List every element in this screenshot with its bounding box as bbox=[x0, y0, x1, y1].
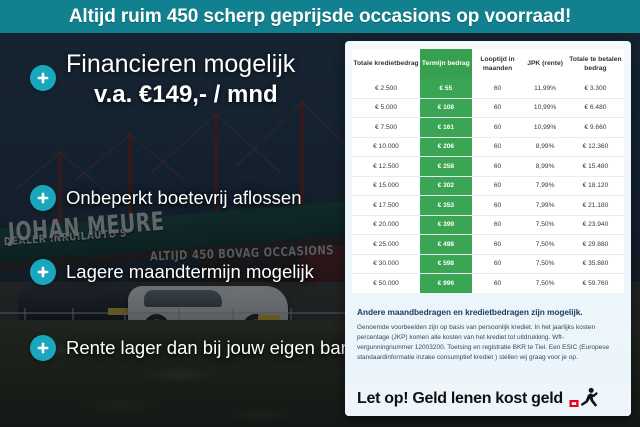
plus-circle-icon bbox=[30, 185, 56, 211]
financing-info-card: Totale kredietbedrag Termijn bedrag Loop… bbox=[345, 41, 631, 416]
table-cell-0: € 50.000 bbox=[352, 274, 420, 293]
table-row: € 10.000€ 206608,99%€ 12.360 bbox=[352, 137, 624, 157]
table-cell-2: 60 bbox=[472, 196, 524, 216]
table-cell-1: € 55 bbox=[420, 79, 472, 98]
table-cell-0: € 12.500 bbox=[352, 157, 420, 177]
table-cell-3: 10,99% bbox=[523, 118, 567, 138]
table-cell-3: 8,99% bbox=[523, 157, 567, 177]
table-cell-1: € 108 bbox=[420, 98, 472, 118]
table-cell-4: € 23.940 bbox=[567, 215, 624, 235]
benefit-item-1: Onbeperkt boetevrij aflossen bbox=[30, 185, 302, 211]
table-cell-0: € 7.500 bbox=[352, 118, 420, 138]
column-header-apr: JPK (rente) bbox=[523, 49, 567, 79]
table-cell-1: € 498 bbox=[420, 235, 472, 255]
table-cell-2: 60 bbox=[472, 215, 524, 235]
table-cell-2: 60 bbox=[472, 98, 524, 118]
table-cell-1: € 598 bbox=[420, 254, 472, 274]
table-cell-1: € 206 bbox=[420, 137, 472, 157]
table-cell-1: € 996 bbox=[420, 274, 472, 293]
table-row: € 2.500€ 556011,99%€ 3.300 bbox=[352, 79, 624, 98]
column-header-total-credit: Totale kredietbedrag bbox=[352, 49, 420, 79]
headline-financing: Financieren mogelijk v.a. €149,- / mnd bbox=[30, 51, 295, 108]
table-cell-0: € 2.500 bbox=[352, 79, 420, 98]
table-cell-0: € 10.000 bbox=[352, 137, 420, 157]
benefits-list: Financieren mogelijk v.a. €149,- / mnd O… bbox=[0, 33, 345, 427]
table-cell-2: 60 bbox=[472, 254, 524, 274]
table-cell-3: 11,99% bbox=[523, 79, 567, 98]
column-header-duration: Looptijd in maanden bbox=[472, 49, 524, 79]
financing-table: Totale kredietbedrag Termijn bedrag Loop… bbox=[352, 49, 624, 293]
credit-warning-text: Let op! Geld lenen kost geld bbox=[357, 390, 563, 408]
financing-table-body: € 2.500€ 556011,99%€ 3.300€ 5.000€ 10860… bbox=[352, 79, 624, 293]
table-cell-1: € 399 bbox=[420, 215, 472, 235]
table-header-row: Totale kredietbedrag Termijn bedrag Loop… bbox=[352, 49, 624, 79]
column-header-total-payable: Totale te betalen bedrag bbox=[567, 49, 624, 79]
table-row: € 12.500€ 258608,99%€ 15.480 bbox=[352, 157, 624, 177]
table-cell-0: € 15.000 bbox=[352, 176, 420, 196]
table-cell-2: 60 bbox=[472, 176, 524, 196]
column-header-monthly-amount: Termijn bedrag bbox=[420, 49, 472, 79]
table-cell-4: € 29.880 bbox=[567, 235, 624, 255]
table-cell-2: 60 bbox=[472, 118, 524, 138]
financing-table-wrapper: Totale kredietbedrag Termijn bedrag Loop… bbox=[352, 49, 624, 293]
table-row: € 30.000€ 598607,50%€ 35.880 bbox=[352, 254, 624, 274]
plus-circle-icon bbox=[30, 335, 56, 361]
benefit-label: Onbeperkt boetevrij aflossen bbox=[66, 187, 302, 209]
table-cell-2: 60 bbox=[472, 137, 524, 157]
credit-warning-bar: Let op! Geld lenen kost geld bbox=[345, 382, 631, 416]
table-cell-3: 7,99% bbox=[523, 196, 567, 216]
top-banner: Altijd ruim 450 scherp geprijsde occasio… bbox=[0, 0, 640, 33]
table-cell-4: € 9.660 bbox=[567, 118, 624, 138]
table-cell-0: € 30.000 bbox=[352, 254, 420, 274]
advertisement-banner: DEALER INRUILAUTO'S JOHAN MEURE ALTIJD 4… bbox=[0, 0, 640, 427]
table-cell-3: 7,50% bbox=[523, 215, 567, 235]
top-banner-text: Altijd ruim 450 scherp geprijsde occasio… bbox=[69, 6, 571, 28]
benefit-label: Rente lager dan bij jouw eigen bank bbox=[66, 337, 360, 359]
table-cell-4: € 6.480 bbox=[567, 98, 624, 118]
table-row: € 5.000€ 1086010,99%€ 6.480 bbox=[352, 98, 624, 118]
table-cell-3: 7,50% bbox=[523, 274, 567, 293]
table-cell-3: 10,99% bbox=[523, 98, 567, 118]
table-cell-2: 60 bbox=[472, 235, 524, 255]
benefit-item-2: Lagere maandtermijn mogelijk bbox=[30, 259, 314, 285]
afm-running-man-icon bbox=[569, 387, 599, 411]
table-cell-2: 60 bbox=[472, 157, 524, 177]
table-cell-1: € 302 bbox=[420, 176, 472, 196]
benefit-label: Lagere maandtermijn mogelijk bbox=[66, 261, 314, 283]
table-cell-1: € 258 bbox=[420, 157, 472, 177]
table-cell-0: € 5.000 bbox=[352, 98, 420, 118]
note-body: Genoemde voorbeelden zijn op basis van p… bbox=[357, 323, 619, 363]
table-cell-0: € 20.000 bbox=[352, 215, 420, 235]
plus-circle-icon bbox=[30, 65, 56, 91]
table-cell-4: € 18.120 bbox=[567, 176, 624, 196]
table-cell-4: € 59.760 bbox=[567, 274, 624, 293]
plus-circle-icon bbox=[30, 259, 56, 285]
table-cell-4: € 35.880 bbox=[567, 254, 624, 274]
table-cell-2: 60 bbox=[472, 79, 524, 98]
table-row: € 20.000€ 399607,50%€ 23.940 bbox=[352, 215, 624, 235]
table-cell-0: € 25.000 bbox=[352, 235, 420, 255]
table-cell-4: € 3.300 bbox=[567, 79, 624, 98]
table-cell-4: € 15.480 bbox=[567, 157, 624, 177]
table-cell-4: € 21.180 bbox=[567, 196, 624, 216]
table-cell-3: 8,99% bbox=[523, 137, 567, 157]
benefit-item-3: Rente lager dan bij jouw eigen bank bbox=[30, 335, 360, 361]
table-cell-1: € 161 bbox=[420, 118, 472, 138]
table-row: € 7.500€ 1616010,99%€ 9.660 bbox=[352, 118, 624, 138]
table-row: € 17.500€ 353607,99%€ 21.180 bbox=[352, 196, 624, 216]
table-cell-4: € 12.360 bbox=[567, 137, 624, 157]
table-row: € 50.000€ 996607,50%€ 59.760 bbox=[352, 274, 624, 293]
table-row: € 15.000€ 302607,99%€ 18.120 bbox=[352, 176, 624, 196]
table-cell-1: € 353 bbox=[420, 196, 472, 216]
table-cell-3: 7,50% bbox=[523, 235, 567, 255]
headline-line-1: Financieren mogelijk bbox=[66, 51, 295, 78]
note-title: Andere maandbedragen en kredietbedragen … bbox=[357, 307, 619, 317]
table-cell-3: 7,50% bbox=[523, 254, 567, 274]
table-cell-2: 60 bbox=[472, 274, 524, 293]
table-cell-0: € 17.500 bbox=[352, 196, 420, 216]
table-row: € 25.000€ 498607,50%€ 29.880 bbox=[352, 235, 624, 255]
headline-line-2: v.a. €149,- / mnd bbox=[94, 82, 295, 108]
table-cell-3: 7,99% bbox=[523, 176, 567, 196]
